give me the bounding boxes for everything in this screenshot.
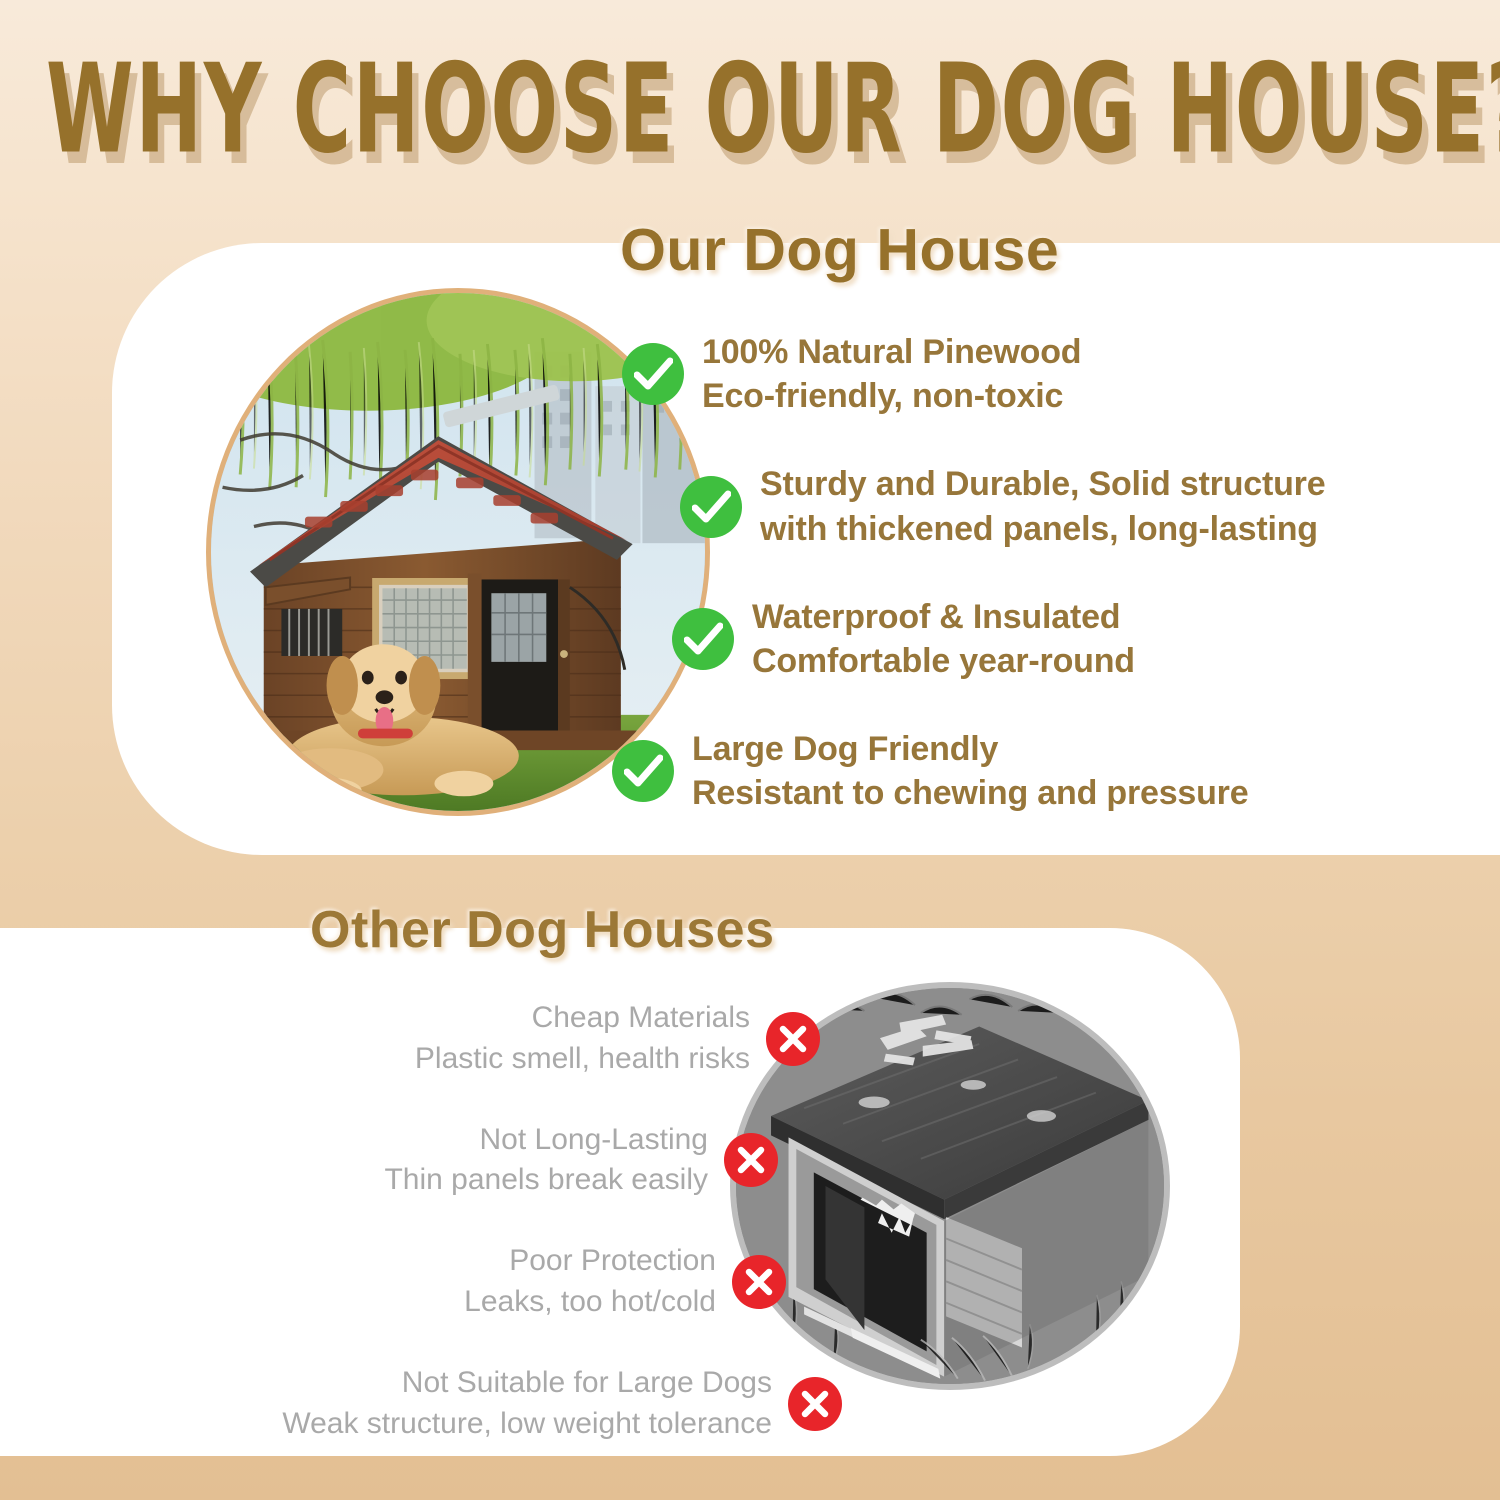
drawback-line-1: Poor Protection xyxy=(464,1241,716,1282)
feature-line-1: 100% Natural Pinewood xyxy=(702,330,1081,374)
drawback-line-2: Plastic smell, health risks xyxy=(415,1039,750,1080)
cross-icon xyxy=(724,1133,778,1187)
check-icon xyxy=(612,740,674,802)
cross-icon xyxy=(732,1255,786,1309)
feature-line-2: Eco-friendly, non-toxic xyxy=(702,374,1081,418)
feature-text: Waterproof & Insulated Comfortable year-… xyxy=(752,595,1135,683)
cross-icon xyxy=(788,1377,842,1431)
other-dog-houses-heading: Other Dog Houses xyxy=(310,900,775,960)
comparison-infographic: WHY CHOOSE OUR DOG HOUSE?" Our Dog House xyxy=(0,0,1500,1500)
feature-text: Large Dog Friendly Resistant to chewing … xyxy=(692,727,1248,815)
drawback-item: Cheap Materials Plastic smell, health ri… xyxy=(120,998,820,1080)
drawback-text: Not Long-Lasting Thin panels break easil… xyxy=(384,1120,708,1202)
feature-text: Sturdy and Durable, Solid structure with… xyxy=(760,462,1325,550)
feature-text: 100% Natural Pinewood Eco-friendly, non-… xyxy=(702,330,1081,418)
page-title: WHY CHOOSE OUR DOG HOUSE?" xyxy=(46,48,1352,171)
drawback-text: Poor Protection Leaks, too hot/cold xyxy=(464,1241,716,1323)
drawback-line-1: Cheap Materials xyxy=(415,998,750,1039)
drawback-item: Poor Protection Leaks, too hot/cold xyxy=(120,1241,786,1323)
cross-icon xyxy=(766,1012,820,1066)
other-drawbacks-list: Cheap Materials Plastic smell, health ri… xyxy=(120,998,820,1444)
feature-item: Sturdy and Durable, Solid structure with… xyxy=(680,462,1442,550)
feature-line-2: Resistant to chewing and pressure xyxy=(692,771,1248,815)
header-band: WHY CHOOSE OUR DOG HOUSE?" xyxy=(0,0,1500,200)
feature-line-2: Comfortable year-round xyxy=(752,639,1135,683)
feature-line-2: with thickened panels, long-lasting xyxy=(760,507,1325,551)
drawback-line-1: Not Long-Lasting xyxy=(384,1120,708,1161)
feature-item: Waterproof & Insulated Comfortable year-… xyxy=(672,595,1442,683)
feature-line-1: Large Dog Friendly xyxy=(692,727,1248,771)
feature-line-1: Waterproof & Insulated xyxy=(752,595,1135,639)
drawback-line-2: Leaks, too hot/cold xyxy=(464,1282,716,1323)
feature-line-1: Sturdy and Durable, Solid structure xyxy=(760,462,1325,506)
check-icon xyxy=(672,608,734,670)
our-features-list: 100% Natural Pinewood Eco-friendly, non-… xyxy=(612,330,1442,816)
drawback-item: Not Long-Lasting Thin panels break easil… xyxy=(120,1120,778,1202)
check-icon xyxy=(680,476,742,538)
drawback-line-1: Not Suitable for Large Dogs xyxy=(282,1363,772,1404)
check-icon xyxy=(622,343,684,405)
drawback-text: Cheap Materials Plastic smell, health ri… xyxy=(415,998,750,1080)
drawback-line-2: Thin panels break easily xyxy=(384,1160,708,1201)
drawback-line-2: Weak structure, low weight tolerance xyxy=(282,1404,772,1445)
drawback-item: Not Suitable for Large Dogs Weak structu… xyxy=(120,1363,842,1445)
drawback-text: Not Suitable for Large Dogs Weak structu… xyxy=(282,1363,772,1445)
feature-item: 100% Natural Pinewood Eco-friendly, non-… xyxy=(622,330,1442,418)
feature-item: Large Dog Friendly Resistant to chewing … xyxy=(612,727,1442,815)
